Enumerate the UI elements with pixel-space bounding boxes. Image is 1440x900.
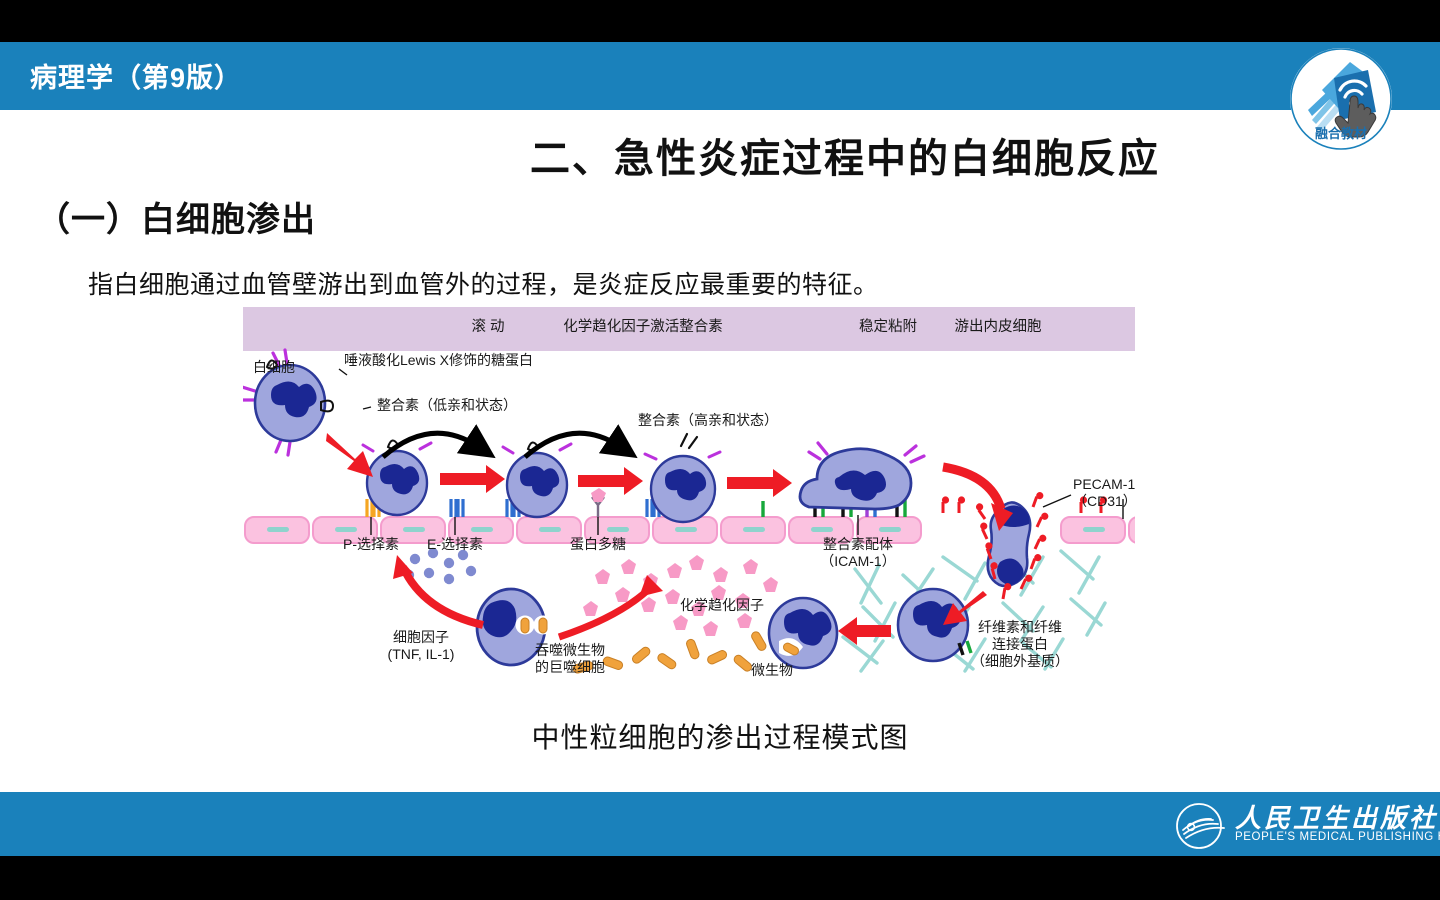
annotation-integrin-ligand: 整合素配体（ICAM-1） — [820, 536, 895, 569]
endothelial-nucleus — [267, 527, 289, 532]
fusion-textbook-badge-icon: 融合教材 — [1288, 46, 1394, 152]
annotation-p-selectin: P-选择素 — [343, 536, 399, 552]
endothelial-nucleus — [539, 527, 561, 532]
annotation-leukocyte: 白细胞 — [253, 359, 295, 375]
annotation-proteoglycan: 蛋白多糖 — [570, 536, 626, 552]
badge-label: 融合教材 — [1315, 126, 1367, 141]
endothelial-nucleus — [335, 527, 357, 532]
cytokine-dot — [424, 568, 434, 578]
leukocyte-emigrated-2 — [769, 598, 837, 668]
endothelial-nucleus — [471, 527, 493, 532]
slide: 病理学（第9版） — [0, 0, 1440, 900]
endothelial-nucleus — [403, 527, 425, 532]
annotation-integrin-high: 整合素（高亲和状态） — [638, 412, 778, 428]
endothelial-nucleus — [607, 527, 629, 532]
bottom-black-bar — [0, 856, 1440, 900]
publisher-logo: 人民卫生出版社 PEOPLE'S MEDICAL PUBLISHING HOUS… — [1175, 800, 1425, 850]
endothelial-nucleus — [675, 527, 697, 532]
annotation-macrophage: 吞噬微生物的巨噬细胞 — [535, 642, 605, 675]
stage-label-0: 滚 动 — [471, 318, 504, 335]
subsection-title: （一）白细胞渗出 — [36, 192, 316, 241]
annotation-e-selectin: E-选择素 — [427, 536, 483, 552]
annotation-cytokines: 细胞因子(TNF, IL-1) — [388, 629, 455, 662]
book-title: 病理学（第9版） — [30, 56, 242, 95]
endothelial-nucleus — [879, 527, 901, 532]
stage-label-1: 化学趋化因子激活整合素 — [563, 318, 723, 335]
cytokine-dot — [444, 574, 454, 584]
endothelial-cell — [1129, 517, 1135, 543]
annotation-pecam1: PECAM-1（CD31） — [1073, 476, 1135, 509]
page-title: 二、急性炎症过程中的白细胞反应 — [0, 126, 1160, 184]
annotation-chemokines: 化学趋化因子 — [680, 597, 764, 613]
endothelial-nucleus — [743, 527, 765, 532]
annotation-sialyl-lewis-x: 唾液酸化Lewis X修饰的糖蛋白 — [344, 352, 533, 368]
stage-label-2: 稳定粘附 — [859, 318, 917, 335]
cytokine-dot — [410, 554, 420, 564]
neutrophil-extravasation-diagram: 滚 动化学趋化因子激活整合素稳定粘附游出内皮细胞 — [243, 307, 1135, 702]
endothelial-nucleus — [811, 527, 833, 532]
annotation-integrin-low: 整合素（低亲和状态） — [377, 397, 517, 413]
top-black-bar — [0, 0, 1440, 42]
publisher-mark-icon — [1175, 800, 1229, 852]
stage-label-3: 游出内皮细胞 — [955, 318, 1042, 335]
cytokine-dot — [466, 566, 476, 576]
endothelial-nucleus — [1083, 527, 1105, 532]
publisher-name-en: PEOPLE'S MEDICAL PUBLISHING HOUSE — [1235, 831, 1440, 843]
figure-caption: 中性粒细胞的渗出过程模式图 — [0, 716, 1440, 756]
publisher-name-cn: 人民卫生出版社 — [1235, 798, 1438, 835]
body-paragraph: 指白细胞通过血管壁游出到血管外的过程，是炎症反应最重要的特征。 — [88, 265, 879, 301]
annotation-microbes: 微生物 — [751, 662, 793, 678]
cytokine-dot — [444, 558, 454, 568]
